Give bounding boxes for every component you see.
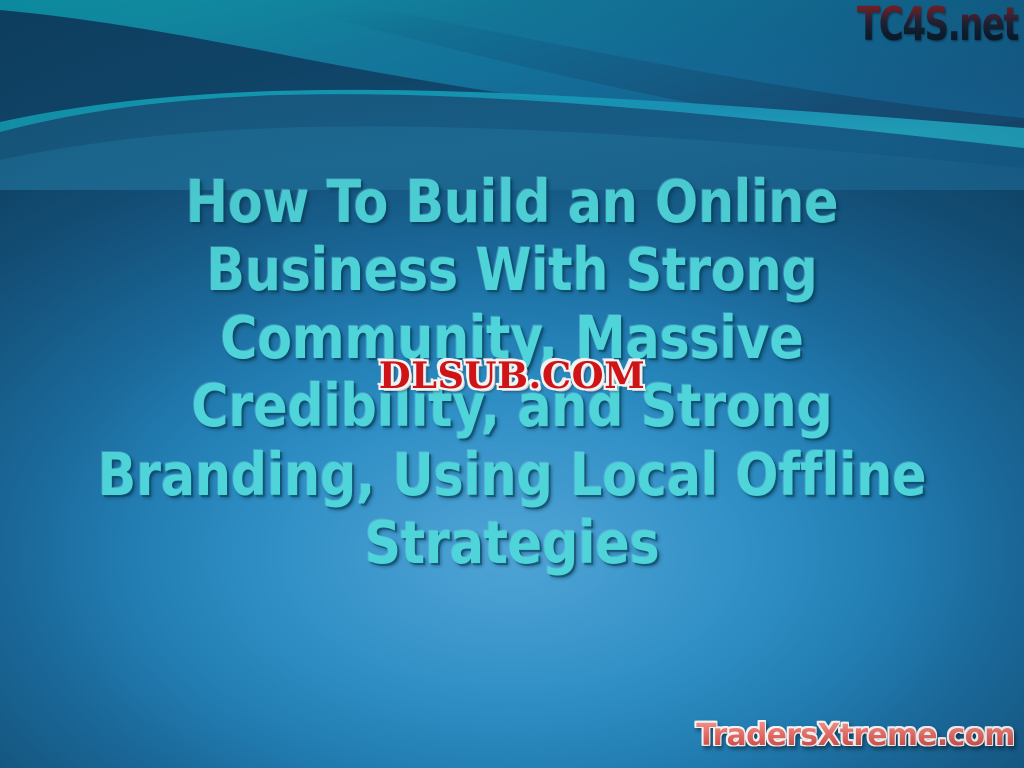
tc4s-logo-watermark: TC4S.net (857, 2, 1018, 48)
presentation-slide: How To Build an Online Business With Str… (0, 0, 1024, 768)
dlsub-com-watermark-text: DLSUB.COM (379, 358, 645, 394)
dlsub-com-watermark: DLSUB.COM (381, 358, 642, 394)
tradersxtreme-com-watermark: TradersXtreme.com (696, 721, 1015, 751)
